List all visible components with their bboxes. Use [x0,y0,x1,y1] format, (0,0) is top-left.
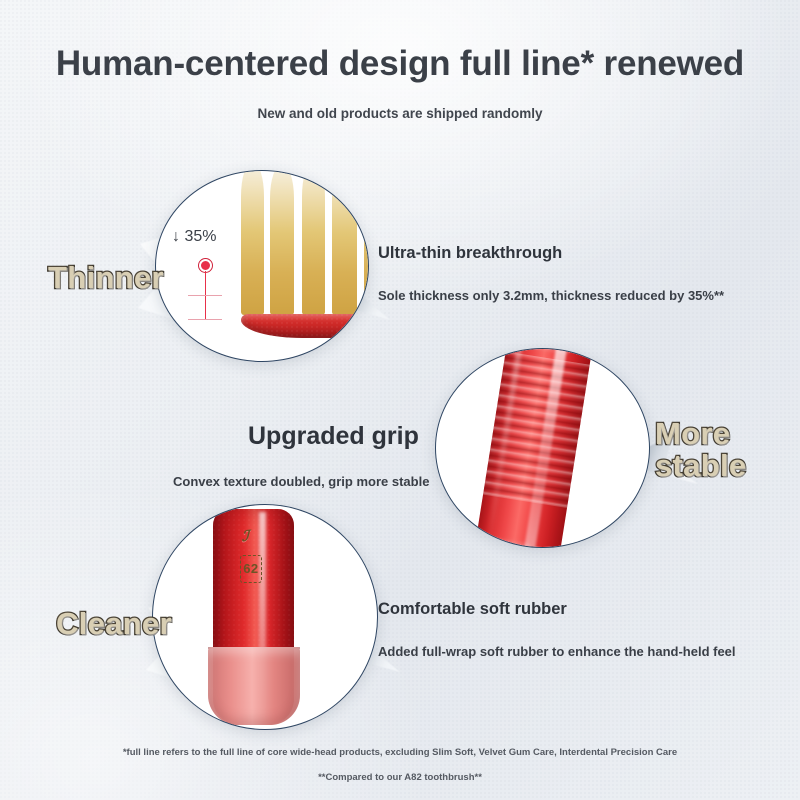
product-circle-soft-rubber: ℐ 62 [152,504,378,730]
product-circle-grip [435,348,650,548]
page-subtitle: New and old products are shipped randoml… [0,106,800,121]
footnote-comparison: **Compared to our A82 toothbrush** [0,773,800,783]
thickness-reduction-annotation: ↓ 35% [172,228,216,246]
feature-subheading-upgraded-grip: Convex texture doubled, grip more stable [173,474,429,489]
product-circle-bristles: ↓ 35% [155,170,369,362]
brush-sole [241,314,368,338]
feature-subheading-soft-rubber: Added full-wrap soft rubber to enhance t… [378,644,736,659]
measure-tick-upper [188,295,222,296]
measure-tick-lower [188,319,222,320]
bristle-group [241,171,368,315]
feature-heading-ultrathin: Ultra-thin breakthrough [378,244,562,263]
soft-rubber-tip [208,647,300,724]
side-label-thinner: Thinner [48,262,164,294]
page-title: Human-centered design full line* renewed [0,44,800,84]
poster-canvas: Human-centered design full line* renewed… [0,0,800,800]
feature-heading-upgraded-grip: Upgraded grip [248,422,419,451]
model-badge: 62 [240,555,262,583]
feature-subheading-ultrathin: Sole thickness only 3.2mm, thickness red… [378,288,724,303]
side-label-more-stable: More stable [655,418,746,481]
feature-heading-soft-rubber: Comfortable soft rubber [378,600,567,619]
footnote-full-line: *full line refers to the full line of co… [0,748,800,758]
header: Human-centered design full line* renewed… [0,0,800,121]
grip-handle [474,349,595,547]
handle-end: ℐ 62 [213,509,294,724]
footnotes: *full line refers to the full line of co… [0,748,800,784]
